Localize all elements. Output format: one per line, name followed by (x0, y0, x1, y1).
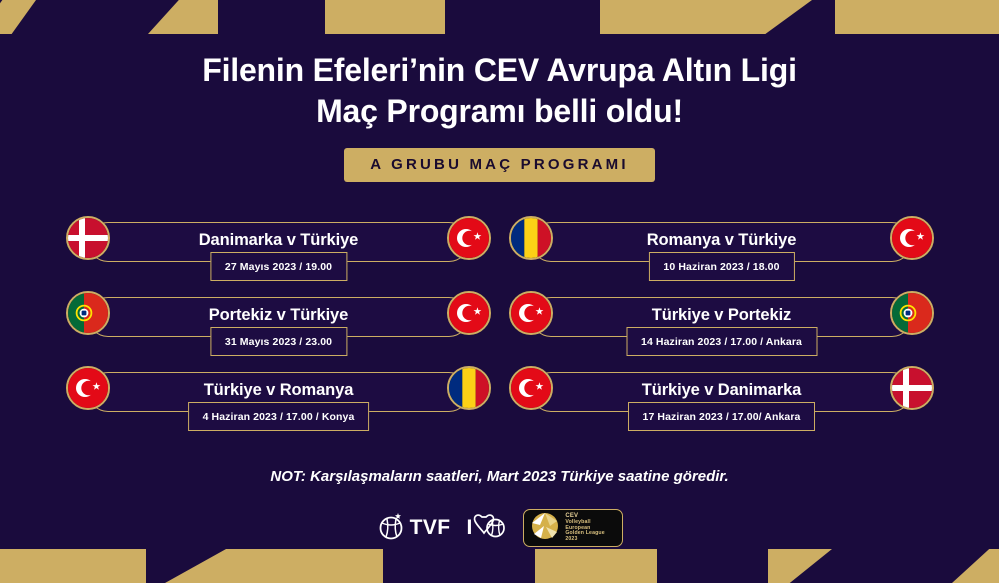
match-fixture: Danimarka v Türkiye (199, 231, 359, 253)
deco-shape-top-4 (600, 0, 812, 34)
i-love-volleyball-logo: I (467, 511, 508, 546)
match-details-box: 27 Mayıs 2023 / 19.00 (210, 252, 347, 281)
match-row: Danimarka v Türkiye 27 Mayıs 2023 / 19.0… (66, 216, 491, 275)
turkey-flag (447, 216, 491, 260)
footnote: NOT: Karşılaşmaların saatleri, Mart 2023… (0, 468, 999, 485)
match-fixture: Türkiye v Portekiz (652, 306, 791, 328)
cev-golden-league-badge: CEV Volleyball European Golden League 20… (523, 509, 623, 547)
match-details: 17 Haziran 2023 / 17.00/ Ankara (643, 411, 801, 423)
deco-shape-bottom-5 (952, 549, 999, 583)
tvf-logo: TVF (376, 511, 451, 546)
match-row: Türkiye v Danimarka 17 Haziran 2023 / 17… (509, 366, 934, 425)
match-row: Portekiz v Türkiye 31 Mayıs 2023 / 23.00 (66, 291, 491, 350)
romania-flag (447, 366, 491, 410)
volleyball-icon (376, 511, 406, 546)
match-details: 14 Haziran 2023 / 17.00 / Ankara (641, 336, 802, 348)
logo-strip: TVF I CEV Volleyball Europe (0, 509, 999, 547)
match-details: 27 Mayıs 2023 / 19.00 (225, 261, 332, 273)
page-title-line-2: Maç Programı belli oldu! (0, 91, 999, 132)
page-title-line-1: Filenin Efeleri’nin CEV Avrupa Altın Lig… (0, 50, 999, 91)
match-row: Türkiye v Portekiz 14 Haziran 2023 / 17.… (509, 291, 934, 350)
match-details-box: 10 Haziran 2023 / 18.00 (648, 252, 794, 281)
match-details-box: 14 Haziran 2023 / 17.00 / Ankara (626, 327, 817, 356)
match-fixture: Romanya v Türkiye (647, 231, 797, 253)
deco-shape-bottom-3 (535, 549, 657, 583)
match-list: Danimarka v Türkiye 27 Mayıs 2023 / 19.0… (66, 216, 934, 425)
match-details: 10 Haziran 2023 / 18.00 (663, 261, 779, 273)
i-letter: I (467, 516, 473, 540)
deco-shape-top-3 (325, 0, 445, 34)
turkey-flag (509, 366, 553, 410)
match-details-box: 4 Haziran 2023 / 17.00 / Konya (188, 402, 370, 431)
romania-flag (509, 216, 553, 260)
page-title: Filenin Efeleri’nin CEV Avrupa Altın Lig… (0, 50, 999, 132)
cev-starburst-icon (530, 511, 560, 546)
portugal-flag (890, 291, 934, 335)
deco-shape-bottom-4 (768, 549, 832, 583)
deco-shape-top-5 (835, 0, 999, 34)
cev-line-4: 2023 (565, 537, 616, 543)
match-details-box: 31 Mayıs 2023 / 23.00 (210, 327, 347, 356)
deco-shape-top-2 (148, 0, 218, 34)
denmark-flag (890, 366, 934, 410)
deco-shape-bottom-1 (0, 549, 146, 583)
turkey-flag (66, 366, 110, 410)
tvf-label: TVF (410, 516, 451, 540)
match-details-box: 17 Haziran 2023 / 17.00/ Ankara (628, 402, 816, 431)
deco-shape-bottom-2 (165, 549, 383, 583)
match-details: 4 Haziran 2023 / 17.00 / Konya (203, 411, 355, 423)
turkey-flag (890, 216, 934, 260)
match-fixture: Türkiye v Danimarka (642, 381, 802, 403)
heart-volleyball-icon (473, 511, 507, 546)
match-fixture: Türkiye v Romanya (204, 381, 354, 403)
page-header: Filenin Efeleri’nin CEV Avrupa Altın Lig… (0, 50, 999, 182)
match-fixture: Portekiz v Türkiye (209, 306, 348, 328)
group-badge: A GRUBU MAÇ PROGRAMI (344, 148, 654, 182)
denmark-flag (66, 216, 110, 260)
turkey-flag (447, 291, 491, 335)
match-row: Türkiye v Romanya 4 Haziran 2023 / 17.00… (66, 366, 491, 425)
portugal-flag (66, 291, 110, 335)
deco-shape-top-1 (0, 0, 36, 34)
match-details: 31 Mayıs 2023 / 23.00 (225, 336, 332, 348)
match-row: Romanya v Türkiye 10 Haziran 2023 / 18.0… (509, 216, 934, 275)
turkey-flag (509, 291, 553, 335)
